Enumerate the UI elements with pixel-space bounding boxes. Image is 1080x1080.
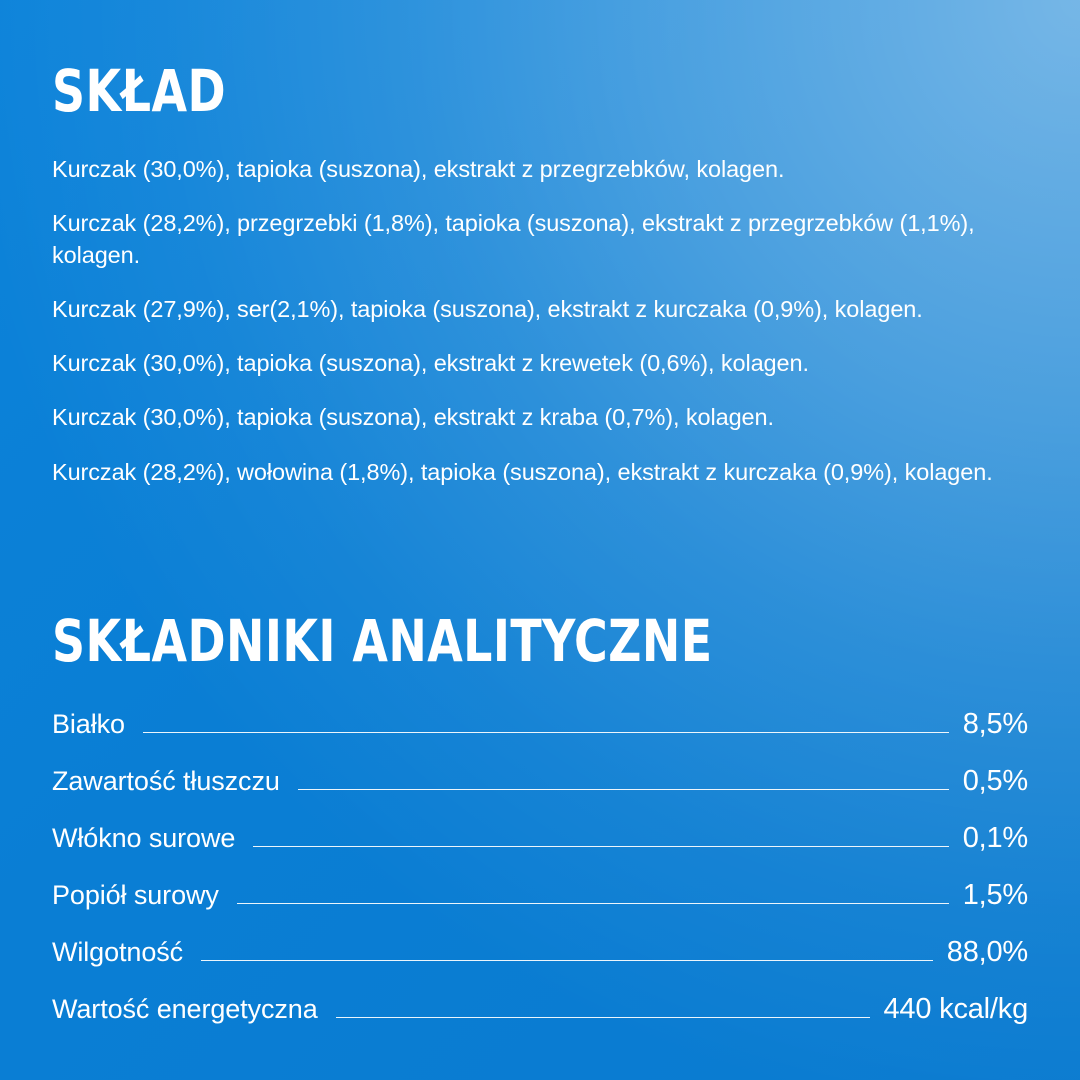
ingredient-paragraph: Kurczak (28,2%), wołowina (1,8%), tapiok… xyxy=(52,457,1024,488)
analytical-constituents-heading: SKŁADNIKI ANALITYCZNE xyxy=(52,612,911,670)
table-row: Wartość energetyczna 440 kcal/kg xyxy=(52,993,1028,1050)
constituent-value: 440 kcal/kg xyxy=(884,993,1029,1026)
ingredient-paragraph: Kurczak (30,0%), tapioka (suszona), ekst… xyxy=(52,154,1024,185)
ingredient-paragraph: Kurczak (30,0%), tapioka (suszona), ekst… xyxy=(52,348,1024,379)
leader-line xyxy=(201,960,933,961)
constituent-label: Białko xyxy=(52,709,125,740)
table-row: Zawartość tłuszczu 0,5% xyxy=(52,765,1028,822)
constituent-value: 1,5% xyxy=(963,879,1028,912)
constituent-label: Wartość energetyczna xyxy=(52,994,318,1025)
leader-line xyxy=(143,732,949,733)
constituent-label: Włókno surowe xyxy=(52,823,235,854)
constituent-value: 88,0% xyxy=(947,936,1028,969)
ingredient-list: Kurczak (30,0%), tapioka (suszona), ekst… xyxy=(52,154,1028,488)
constituent-label: Zawartość tłuszczu xyxy=(52,766,280,797)
leader-line xyxy=(253,846,948,847)
composition-section: SKŁAD Kurczak (30,0%), tapioka (suszona)… xyxy=(52,62,1028,488)
leader-line xyxy=(298,789,949,790)
leader-line xyxy=(237,903,949,904)
constituent-value: 8,5% xyxy=(963,708,1028,741)
table-row: Włókno surowe 0,1% xyxy=(52,822,1028,879)
analytical-constituents-section: SKŁADNIKI ANALITYCZNE Białko 8,5% Zawart… xyxy=(52,612,1028,1050)
table-row: Białko 8,5% xyxy=(52,708,1028,765)
ingredient-paragraph: Kurczak (27,9%), ser(2,1%), tapioka (sus… xyxy=(52,294,1024,325)
constituent-label: Wilgotność xyxy=(52,937,183,968)
table-row: Wilgotność 88,0% xyxy=(52,936,1028,993)
constituent-label: Popiół surowy xyxy=(52,880,219,911)
ingredient-paragraph: Kurczak (28,2%), przegrzebki (1,8%), tap… xyxy=(52,208,1024,271)
leader-line xyxy=(336,1017,870,1018)
analytical-constituents-table: Białko 8,5% Zawartość tłuszczu 0,5% Włók… xyxy=(52,708,1028,1050)
pet-food-label-card: SKŁAD Kurczak (30,0%), tapioka (suszona)… xyxy=(0,0,1080,1080)
ingredient-paragraph: Kurczak (30,0%), tapioka (suszona), ekst… xyxy=(52,402,1024,433)
table-row: Popiół surowy 1,5% xyxy=(52,879,1028,936)
composition-heading: SKŁAD xyxy=(52,62,911,120)
constituent-value: 0,5% xyxy=(963,765,1028,798)
constituent-value: 0,1% xyxy=(963,822,1028,855)
